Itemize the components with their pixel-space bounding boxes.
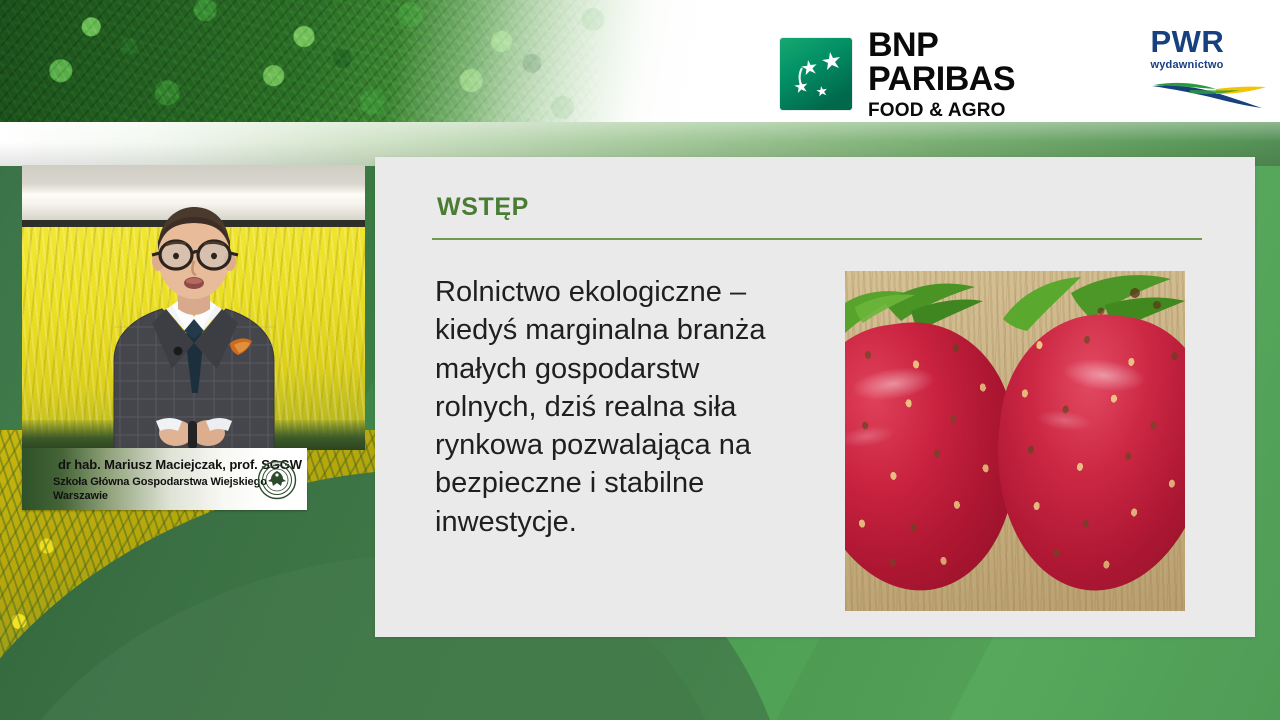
strawberry-right [981, 303, 1185, 603]
strawberry-photo [845, 271, 1185, 611]
speaker-figure [80, 193, 308, 450]
panel-title: WSTĘP [437, 193, 529, 222]
logo-bar: BNP PARIBAS FOOD & AGRO PWR wydawnictwo [780, 20, 1270, 120]
bnp-paribas-logo: BNP PARIBAS FOOD & AGRO [780, 28, 1092, 120]
sggw-eagle-emblem-icon: SGGW [257, 460, 297, 500]
bnp-four-stars-icon [780, 38, 852, 110]
pwr-name: PWR [1150, 26, 1270, 57]
title-divider [432, 238, 1202, 240]
presentation-slide: BNP PARIBAS FOOD & AGRO PWR wydawnictwo … [0, 0, 1280, 720]
content-panel: WSTĘP Rolnictwo ekologiczne – kiedyś mar… [375, 157, 1255, 637]
speaker-video-feed[interactable] [22, 165, 365, 450]
hedge-white-fade [0, 0, 760, 122]
pwr-swoosh-icon [1150, 77, 1268, 111]
pwr-subtitle: wydawnictwo [1150, 59, 1270, 71]
panel-body-text: Rolnictwo ekologiczne – kiedyś marginaln… [435, 273, 795, 541]
strawberry-highlight-right [981, 303, 1185, 603]
pwr-wydawnictwo-logo: PWR wydawnictwo [1150, 26, 1270, 116]
bnp-wordmark: BNP PARIBAS FOOD & AGRO [868, 28, 1092, 120]
bnp-name: BNP PARIBAS [868, 28, 1092, 96]
svg-text:SGGW: SGGW [273, 462, 282, 466]
speaker-affiliation: Szkoła Główna Gospodarstwa Wiejskiego w … [53, 475, 283, 503]
bnp-subtitle: FOOD & AGRO [868, 101, 1092, 120]
speaker-nameplate: dr hab. Mariusz Maciejczak, prof. SGGW S… [22, 448, 307, 510]
